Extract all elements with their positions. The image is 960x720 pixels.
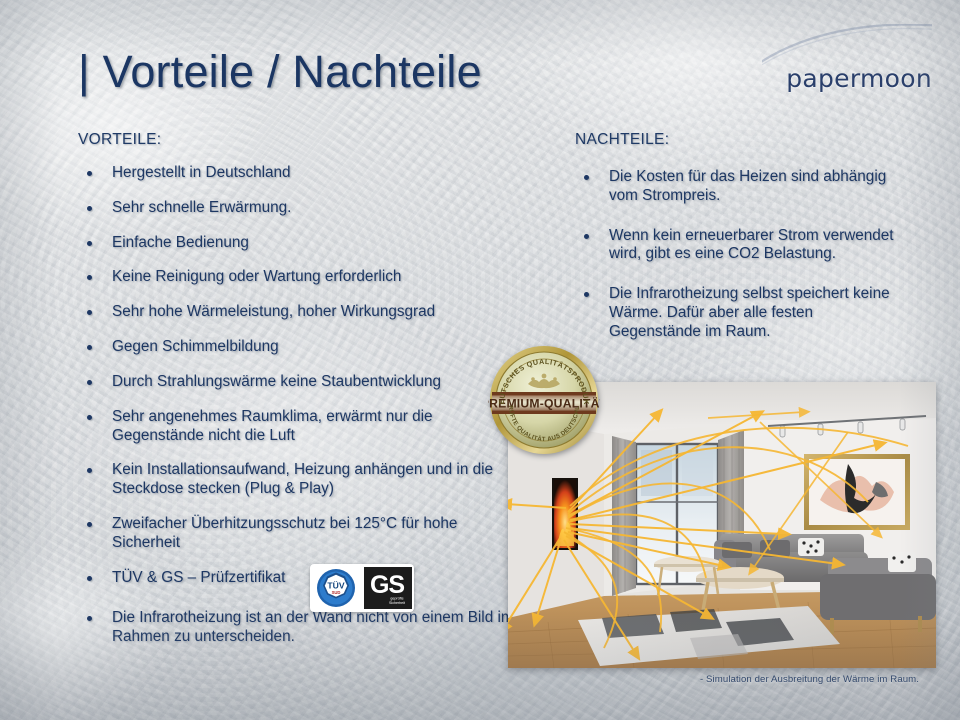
list-item: Sehr schnelle Erwärmung. xyxy=(78,199,518,218)
tuv-icon: TÜV SUD xyxy=(313,566,359,610)
logo-wordmark: papermoon xyxy=(786,64,932,93)
list-item: Die Infrarotheizung ist an der Wand nich… xyxy=(78,609,518,647)
tuv-gs-badge: TÜV SUD GS geprüfte Sicherheit xyxy=(310,564,414,612)
vorteile-heading: VORTEILE: xyxy=(78,131,161,149)
nachteile-heading: NACHTEILE: xyxy=(575,131,669,149)
list-item: Gegen Schimmelbildung xyxy=(78,338,518,357)
slide-canvas: | Vorteile / Nachteile papermoon VORTEIL… xyxy=(0,0,960,720)
svg-text:SUD: SUD xyxy=(331,590,340,595)
list-item: Keine Reinigung oder Wartung erforderlic… xyxy=(78,268,518,287)
svg-text:Sicherheit: Sicherheit xyxy=(389,601,405,605)
list-item: Wenn kein erneuerbarer Strom verwendet w… xyxy=(575,227,905,265)
svg-text:GS: GS xyxy=(369,571,403,599)
list-item: Die Kosten für das Heizen sind abhängig … xyxy=(575,168,905,206)
list-item: Zweifacher Überhitzungsschutz bei 125°C … xyxy=(78,515,518,553)
papermoon-logo: papermoon xyxy=(762,24,932,94)
nachteile-list: Die Kosten für das Heizen sind abhängig … xyxy=(575,168,905,363)
list-item: Sehr hohe Wärmeleistung, hoher Wirkungsg… xyxy=(78,303,518,322)
photo-caption: - Simulation der Ausbreitung der Wärme i… xyxy=(700,674,919,685)
page-title: | Vorteile / Nachteile xyxy=(78,46,482,98)
premium-qualitaet-seal: PREMIUM-QUALITÄT DEUTSCHES QUALITÄTSPROD… xyxy=(488,344,600,456)
list-item: Einfache Bedienung xyxy=(78,234,518,253)
list-item: Hergestellt in Deutschland xyxy=(78,164,518,183)
list-item: Kein Installationsaufwand, Heizung anhän… xyxy=(78,461,518,499)
svg-text:TÜV: TÜV xyxy=(327,581,344,591)
list-item: TÜV & GS – Prüfzertifikat xyxy=(78,569,518,588)
gs-icon: GS geprüfte Sicherheit xyxy=(364,566,412,610)
vorteile-list: Hergestellt in Deutschland Sehr schnelle… xyxy=(78,164,518,663)
list-item: Durch Strahlungswärme keine Staubentwick… xyxy=(78,373,518,392)
list-item: Die Infrarotheizung selbst speichert kei… xyxy=(575,285,905,341)
list-item: Sehr angenehmes Raumklima, erwärmt nur d… xyxy=(78,408,518,446)
